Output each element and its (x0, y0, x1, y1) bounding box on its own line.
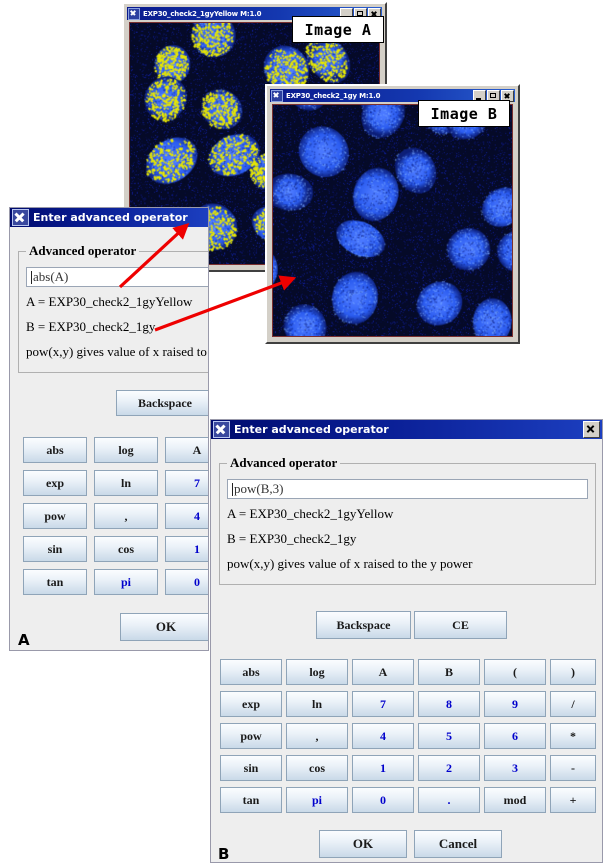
dialog-b-key-sin[interactable]: sin (220, 755, 282, 781)
dialog-a-key-comma[interactable]: , (94, 503, 158, 529)
dialog-a-backspace-button[interactable]: Backspace (116, 390, 209, 416)
dialog-a-key-pow[interactable]: pow (23, 503, 87, 529)
dialog-a-ok-button[interactable]: OK (120, 613, 209, 641)
advanced-operator-dialog-b[interactable]: Enter advanced operator Advanced operato… (210, 419, 603, 863)
figure-panel-letter-b: B (218, 845, 229, 863)
dialog-b-key-lparen[interactable]: ( (484, 659, 546, 685)
dialog-b-key-decimal[interactable]: . (418, 787, 480, 813)
dialog-b-key-ln[interactable]: ln (286, 691, 348, 717)
dialog-b-key-1[interactable]: 1 (352, 755, 414, 781)
dialog-b-ce-button[interactable]: CE (414, 611, 507, 639)
dialog-b-key-2[interactable]: 2 (418, 755, 480, 781)
dialog-a-key-log[interactable]: log (94, 437, 158, 463)
dialog-a-group-legend: Advanced operator (26, 243, 139, 259)
dialog-b-expression-input[interactable]: pow(B,3) (227, 479, 588, 499)
close-icon[interactable] (583, 421, 600, 438)
dialog-a-title: Enter advanced operator (33, 211, 206, 224)
dialog-b-key-B[interactable]: B (418, 659, 480, 685)
dialog-a-key-pi[interactable]: pi (94, 569, 158, 595)
dialog-a-key-exp[interactable]: exp (23, 470, 87, 496)
dialog-b-key-exp[interactable]: exp (220, 691, 282, 717)
dialog-b-body: Advanced operator pow(B,3) A = EXP30_che… (211, 439, 602, 862)
dialog-a-key-1[interactable]: 1 (165, 536, 209, 562)
micrograph-b (273, 105, 512, 336)
dialog-b-key-log[interactable]: log (286, 659, 348, 685)
dialog-b-key-abs[interactable]: abs (220, 659, 282, 685)
dialog-a-key-sin[interactable]: sin (23, 536, 87, 562)
dialog-a-expression-input[interactable]: abs(A) (26, 267, 209, 287)
dialog-b-key-minus[interactable]: - (550, 755, 596, 781)
dialog-b-key-A[interactable]: A (352, 659, 414, 685)
image-b-canvas[interactable] (272, 104, 513, 337)
dialog-a-key-tan[interactable]: tan (23, 569, 87, 595)
dialog-b-key-pi[interactable]: pi (286, 787, 348, 813)
dialog-a-key-A[interactable]: A (165, 437, 209, 463)
dialog-b-key-comma[interactable]: , (286, 723, 348, 749)
advanced-operator-dialog-a[interactable]: Enter advanced operator Advanced operato… (9, 207, 209, 651)
dialog-a-key-0[interactable]: 0 (165, 569, 209, 595)
dialog-b-key-8[interactable]: 8 (418, 691, 480, 717)
dialog-b-key-5[interactable]: 5 (418, 723, 480, 749)
dialog-b-title: Enter advanced operator (234, 423, 583, 436)
dialog-b-group-legend: Advanced operator (227, 455, 340, 471)
system-menu-icon[interactable] (12, 209, 29, 226)
dialog-b-ok-button[interactable]: OK (319, 830, 407, 858)
dialog-a-key-7[interactable]: 7 (165, 470, 209, 496)
dialog-b-key-0[interactable]: 0 (352, 787, 414, 813)
dialog-b-key-cos[interactable]: cos (286, 755, 348, 781)
dialog-a-info-help: pow(x,y) gives value of x raised to the … (26, 344, 209, 360)
dialog-a-key-4[interactable]: 4 (165, 503, 209, 529)
dialog-a-key-abs[interactable]: abs (23, 437, 87, 463)
system-menu-icon[interactable] (128, 8, 140, 20)
dialog-b-backspace-button[interactable]: Backspace (316, 611, 411, 639)
dialog-b-key-mod[interactable]: mod (484, 787, 546, 813)
dialog-b-key-7[interactable]: 7 (352, 691, 414, 717)
dialog-b-key-6[interactable]: 6 (484, 723, 546, 749)
dialog-b-info-a: A = EXP30_check2_1gyYellow (227, 506, 393, 522)
dialog-b-info-b: B = EXP30_check2_1gy (227, 531, 356, 547)
dialog-b-key-9[interactable]: 9 (484, 691, 546, 717)
dialog-a-key-cos[interactable]: cos (94, 536, 158, 562)
figure-panel-letter-a: A (18, 631, 30, 649)
dialog-b-key-rparen[interactable]: ) (550, 659, 596, 685)
image-a-label: Image A (292, 16, 384, 43)
dialog-b-titlebar[interactable]: Enter advanced operator (211, 420, 602, 439)
dialog-a-body: Advanced operator abs(A) A = EXP30_check… (10, 227, 208, 650)
dialog-b-cancel-button[interactable]: Cancel (414, 830, 502, 858)
system-menu-icon[interactable] (213, 421, 230, 438)
dialog-b-key-divide[interactable]: / (550, 691, 596, 717)
image-window-b-title: EXP30_check2_1gy M:1.0 (286, 92, 473, 100)
dialog-b-key-pow[interactable]: pow (220, 723, 282, 749)
dialog-b-key-multiply[interactable]: * (550, 723, 596, 749)
dialog-b-info-help: pow(x,y) gives value of x raised to the … (227, 556, 473, 572)
dialog-a-info-a: A = EXP30_check2_1gyYellow (26, 294, 192, 310)
dialog-a-info-b: B = EXP30_check2_1gy (26, 319, 155, 335)
dialog-b-key-tan[interactable]: tan (220, 787, 282, 813)
dialog-a-key-ln[interactable]: ln (94, 470, 158, 496)
dialog-b-key-4[interactable]: 4 (352, 723, 414, 749)
dialog-b-key-plus[interactable]: + (550, 787, 596, 813)
dialog-a-titlebar[interactable]: Enter advanced operator (10, 208, 208, 227)
image-b-label: Image B (418, 100, 510, 127)
dialog-b-key-3[interactable]: 3 (484, 755, 546, 781)
system-menu-icon[interactable] (271, 90, 283, 102)
